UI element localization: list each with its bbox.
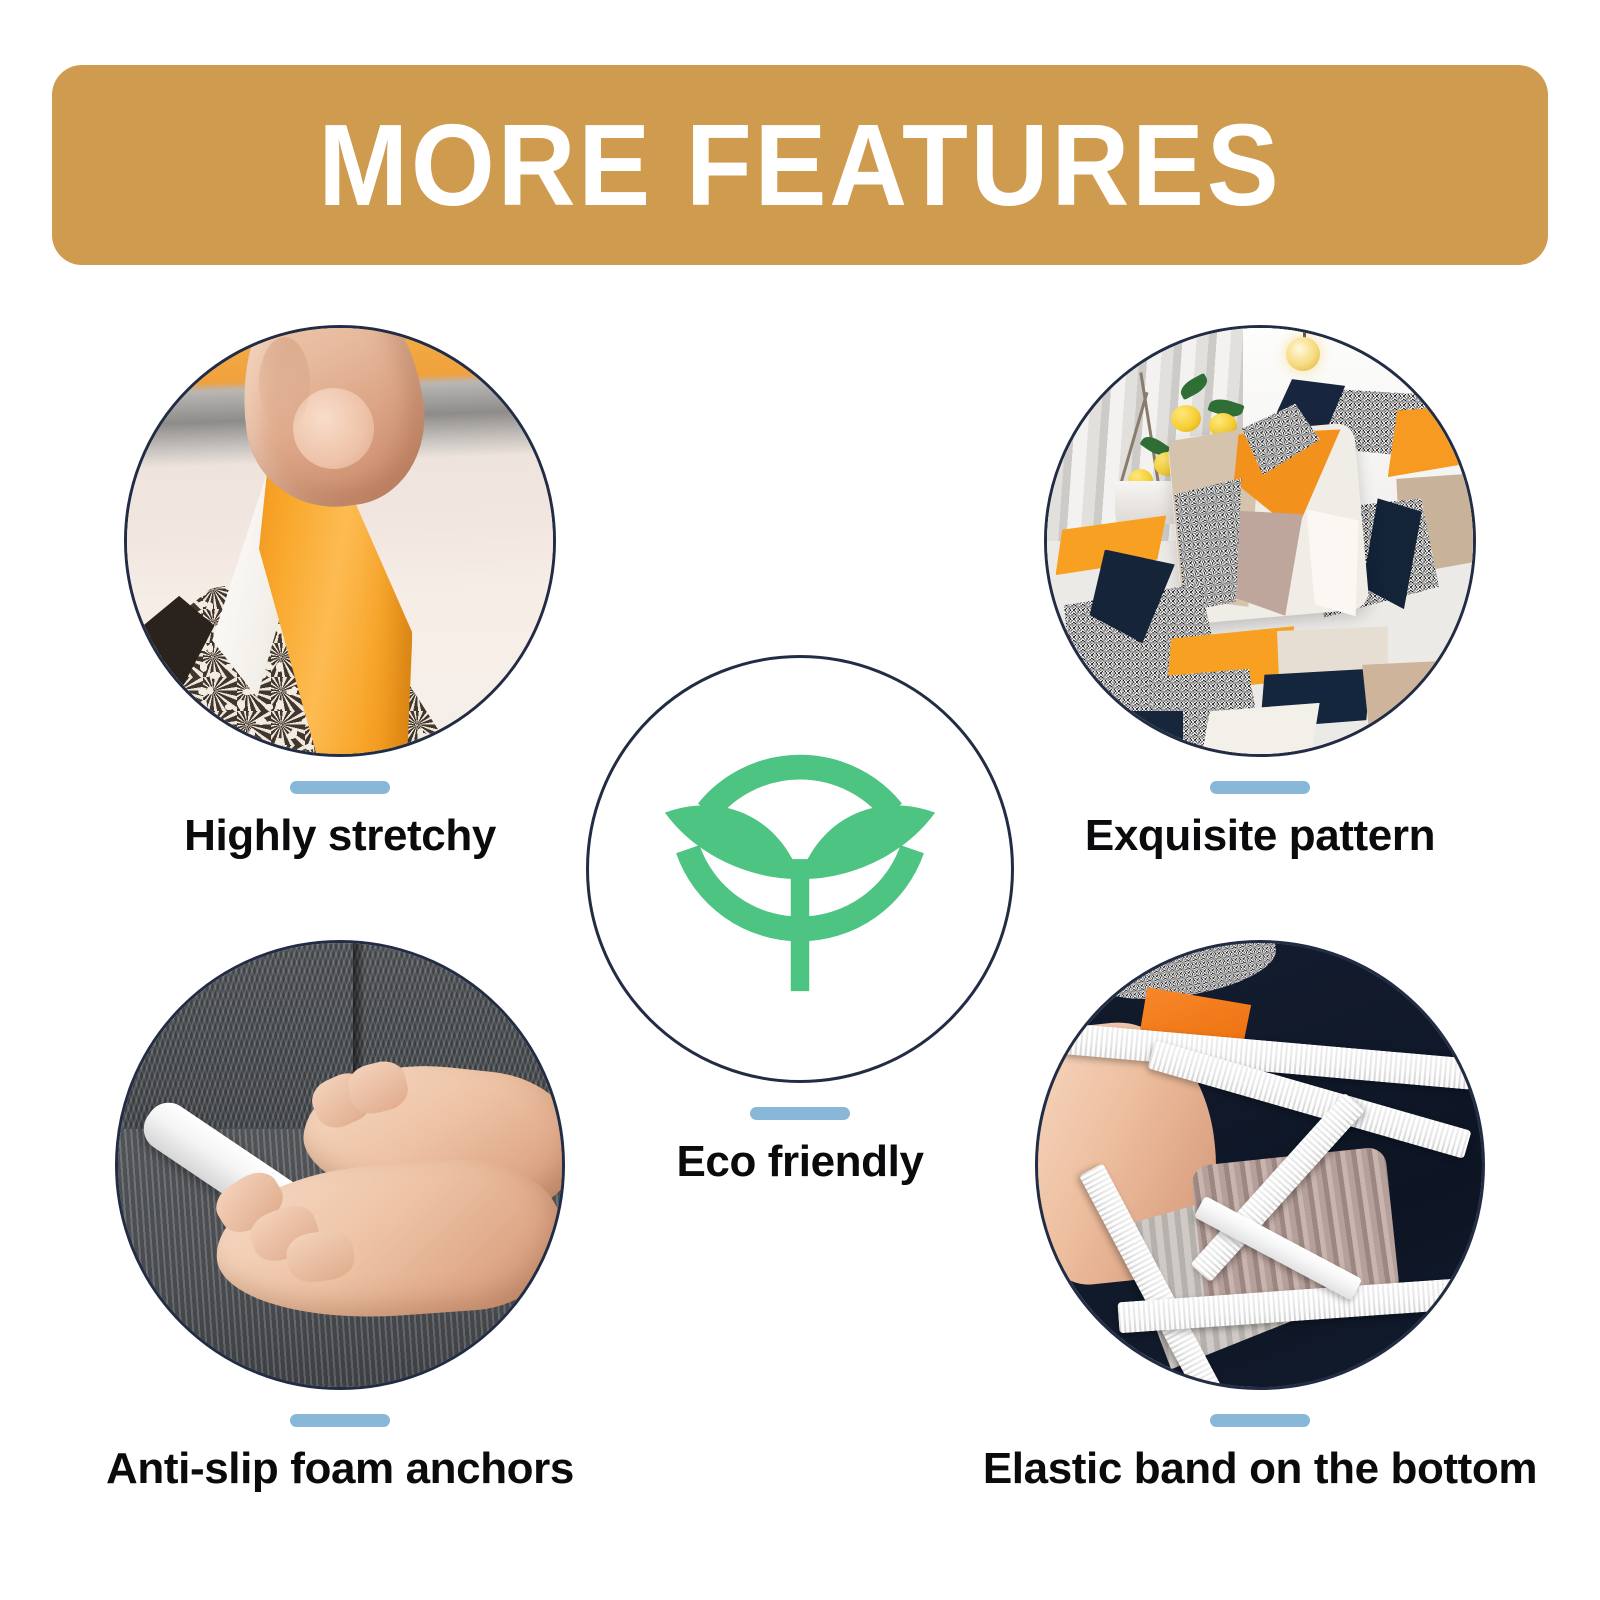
lemon [1171, 405, 1201, 432]
eco-leaf-sprout-icon [635, 704, 965, 1034]
stretchy-fabric-photo [127, 328, 553, 754]
divider-dash [290, 781, 390, 794]
feature-photo-anti-slip-foam-anchors [115, 940, 565, 1390]
divider-dash [1210, 781, 1310, 794]
knuckle-shadow [259, 337, 310, 431]
feature-elastic-band-on-the-bottom: Elastic band on the bottom [960, 940, 1560, 1494]
feature-label-exquisite-pattern: Exquisite pattern [1085, 811, 1435, 861]
feature-exquisite-pattern: Exquisite pattern [980, 325, 1540, 861]
divider-dash [290, 1414, 390, 1427]
feature-photo-exquisite-pattern [1044, 325, 1476, 757]
feature-photo-elastic-band [1035, 940, 1485, 1390]
elastic-band-photo [1038, 943, 1482, 1387]
feature-label-eco-friendly: Eco friendly [676, 1137, 923, 1187]
feature-anti-slip-foam-anchors: Anti-slip foam anchors [45, 940, 635, 1494]
page-title: MORE FEATURES [318, 107, 1281, 223]
header-banner: MORE FEATURES [52, 65, 1548, 265]
divider-dash [1210, 1414, 1310, 1427]
foam-anchor-photo [118, 943, 562, 1387]
divider-dash [750, 1107, 850, 1120]
seat-patch-navy [1081, 711, 1183, 754]
wall-lamp-icon [1286, 337, 1320, 371]
feature-photo-highly-stretchy [124, 325, 556, 757]
feature-label-anti-slip-foam-anchors: Anti-slip foam anchors [106, 1444, 574, 1494]
feature-label-elastic-band: Elastic band on the bottom [983, 1444, 1537, 1494]
patterned-sofa-photo [1047, 328, 1473, 754]
feature-icon-circle-eco-friendly [586, 655, 1014, 1083]
feature-label-highly-stretchy: Highly stretchy [184, 811, 496, 861]
feature-highly-stretchy: Highly stretchy [60, 325, 620, 861]
